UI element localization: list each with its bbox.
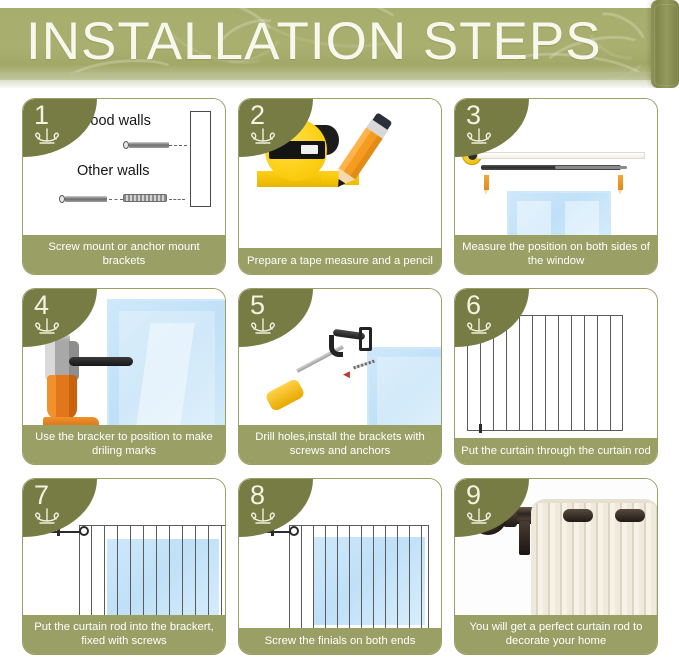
step-number-1: 1	[34, 100, 49, 130]
curtain-bracket-icon: ◀	[331, 327, 371, 359]
mark-pencil-right	[618, 175, 623, 190]
step-4-illustration: 4	[23, 289, 225, 425]
alignment-dash	[169, 199, 185, 200]
header-banner: INSTALLATION STEPS	[0, 0, 679, 88]
step-card-5: ◀ 5 Drill holes,install the brackets wit…	[238, 288, 442, 465]
step-number-9: 9	[466, 480, 481, 510]
curtain-pleat	[169, 525, 170, 615]
window-sheen	[517, 201, 551, 235]
curtain-pleat	[597, 315, 598, 430]
flourish-icon	[464, 507, 494, 525]
curtain-pleat	[337, 525, 338, 628]
curtain-icon	[289, 525, 429, 628]
step-number-badge-5: 5	[239, 289, 313, 347]
step-1-illustration: Wood walls Other walls 1	[23, 99, 225, 235]
flourish-icon	[248, 317, 278, 335]
step-caption-3: Measure the position on both sides of th…	[455, 235, 657, 274]
curtain-header	[80, 525, 225, 530]
step-caption-7: Put the curtain rod into the brackert, f…	[23, 615, 225, 654]
curtain-rod-extension	[555, 166, 627, 169]
flourish-icon	[248, 127, 278, 145]
curtain-pleat	[397, 525, 398, 628]
window-icon	[507, 191, 611, 235]
flourish-icon	[464, 317, 494, 335]
alignment-dash	[169, 145, 187, 146]
curtain-pleat	[545, 315, 546, 430]
curtain-header	[290, 525, 428, 530]
rod-ring-icon	[289, 526, 299, 536]
step-caption-4: Use the bracker to position to make dril…	[23, 425, 225, 464]
curtain-pleat	[421, 525, 422, 628]
curtain-pleat	[195, 525, 196, 615]
bracket-wall-plate	[359, 327, 372, 351]
step-5-illustration: ◀ 5	[239, 289, 441, 425]
drill-grip	[47, 375, 77, 419]
flourish-icon	[248, 507, 278, 525]
step-number-8: 8	[250, 480, 265, 510]
curtain-pleat	[532, 315, 533, 430]
curtain-pleat	[301, 525, 302, 628]
machine-screw-icon	[65, 196, 107, 202]
step-caption-5: Drill holes,install the brackets with sc…	[239, 425, 441, 464]
step-card-9: 9 You will get a perfect curtain rod to …	[454, 478, 658, 655]
step-card-2: 2 Prepare a tape measure and a pencil	[238, 98, 442, 275]
curtain-bracket-icon	[519, 521, 530, 555]
step-number-2: 2	[250, 100, 265, 130]
tape-measure-readout	[301, 145, 318, 154]
step-number-badge-1: 1	[23, 99, 97, 157]
wood-screw-icon	[129, 142, 169, 148]
curtain-pleat	[156, 525, 157, 615]
assembly-arrow-icon: ◀	[343, 369, 350, 380]
curtain-pleat	[104, 525, 105, 615]
curtain-pleat	[313, 525, 314, 628]
curtain-grommet-icon	[563, 509, 593, 522]
step-number-4: 4	[34, 290, 49, 320]
bracket-hook	[329, 335, 343, 357]
step-number-7: 7	[34, 480, 49, 510]
step-caption-2: Prepare a tape measure and a pencil	[239, 248, 441, 274]
window-sheen	[377, 357, 441, 425]
step-number-5: 5	[250, 290, 265, 320]
curtain-pleat	[221, 525, 222, 615]
step-3-illustration: 3	[455, 99, 657, 235]
step-9-illustration: 9	[455, 479, 657, 615]
curtain-pleat	[558, 315, 559, 430]
curtain-pleat	[610, 315, 611, 430]
step-number-6: 6	[466, 290, 481, 320]
mark-pencil-left	[484, 175, 489, 190]
curtain-pleat	[130, 525, 131, 615]
step-caption-8: Screw the finials on both ends	[239, 628, 441, 654]
curtain-pleat	[117, 525, 118, 615]
step-caption-9: You will get a perfect curtain rod to de…	[455, 615, 657, 654]
step-number-badge-3: 3	[455, 99, 529, 157]
curtain-pleat	[325, 525, 326, 628]
measuring-tape-strip	[477, 152, 645, 159]
step-7-illustration: 7	[23, 479, 225, 615]
curtain-grommet-icon	[615, 509, 645, 522]
step-8-illustration: 8	[239, 479, 441, 628]
step-caption-6: Put the curtain through the curtain rod	[455, 438, 657, 464]
step-card-8: 8 Screw the finials on both ends	[238, 478, 442, 655]
flourish-icon	[464, 127, 494, 145]
steps-grid: Wood walls Other walls 1 Screw mount or …	[22, 98, 658, 655]
flourish-icon	[32, 317, 62, 335]
curtain-pleat	[143, 525, 144, 615]
window-sheen	[565, 201, 599, 235]
wall-anchor-icon	[123, 194, 167, 202]
curtain-pleat	[571, 315, 572, 430]
step-card-4: 4 Use the bracker to position to make dr…	[22, 288, 226, 465]
wall-board-icon	[190, 111, 211, 207]
step-number-badge-4: 4	[23, 289, 97, 347]
rod-end-marker	[479, 424, 482, 433]
banner-scroll-end	[651, 0, 679, 88]
alignment-dash	[109, 199, 123, 200]
step-caption-1: Screw mount or anchor mount brackets	[23, 235, 225, 274]
curtain-pleat	[182, 525, 183, 615]
step-card-7: 7 Put the curtain rod into the brackert,…	[22, 478, 226, 655]
banner-bottom-fade	[0, 72, 672, 88]
curtain-pleat	[208, 525, 209, 615]
flourish-icon	[32, 507, 62, 525]
drill-side-handle	[69, 357, 133, 366]
curtain-pleat	[361, 525, 362, 628]
curtain-pleat	[506, 315, 507, 430]
rod-ring-icon	[79, 526, 89, 536]
other-walls-label: Other walls	[77, 163, 150, 179]
pencil-icon	[331, 116, 390, 190]
flourish-icon	[32, 127, 62, 145]
step-number-3: 3	[466, 100, 481, 130]
step-card-1: Wood walls Other walls 1 Screw mount or …	[22, 98, 226, 275]
page-title: INSTALLATION STEPS	[26, 10, 602, 74]
curtain-pleat	[385, 525, 386, 628]
curtain-pleat	[584, 315, 585, 430]
curtain-pleat	[519, 315, 520, 430]
window-icon	[367, 347, 441, 425]
drill-base	[43, 417, 99, 425]
screwdriver-icon	[264, 378, 305, 413]
curtain-pleat	[91, 525, 92, 615]
curtain-pleat	[349, 525, 350, 628]
curtain-pleat	[373, 525, 374, 628]
step-2-illustration: 2	[239, 99, 441, 248]
curtain-pleat	[409, 525, 410, 628]
step-card-6: 6 Put the curtain through the curtain ro…	[454, 288, 658, 465]
step-card-3: 3 Measure the position on both sides of …	[454, 98, 658, 275]
curtain-icon	[79, 525, 225, 615]
step-6-illustration: 6	[455, 289, 657, 438]
